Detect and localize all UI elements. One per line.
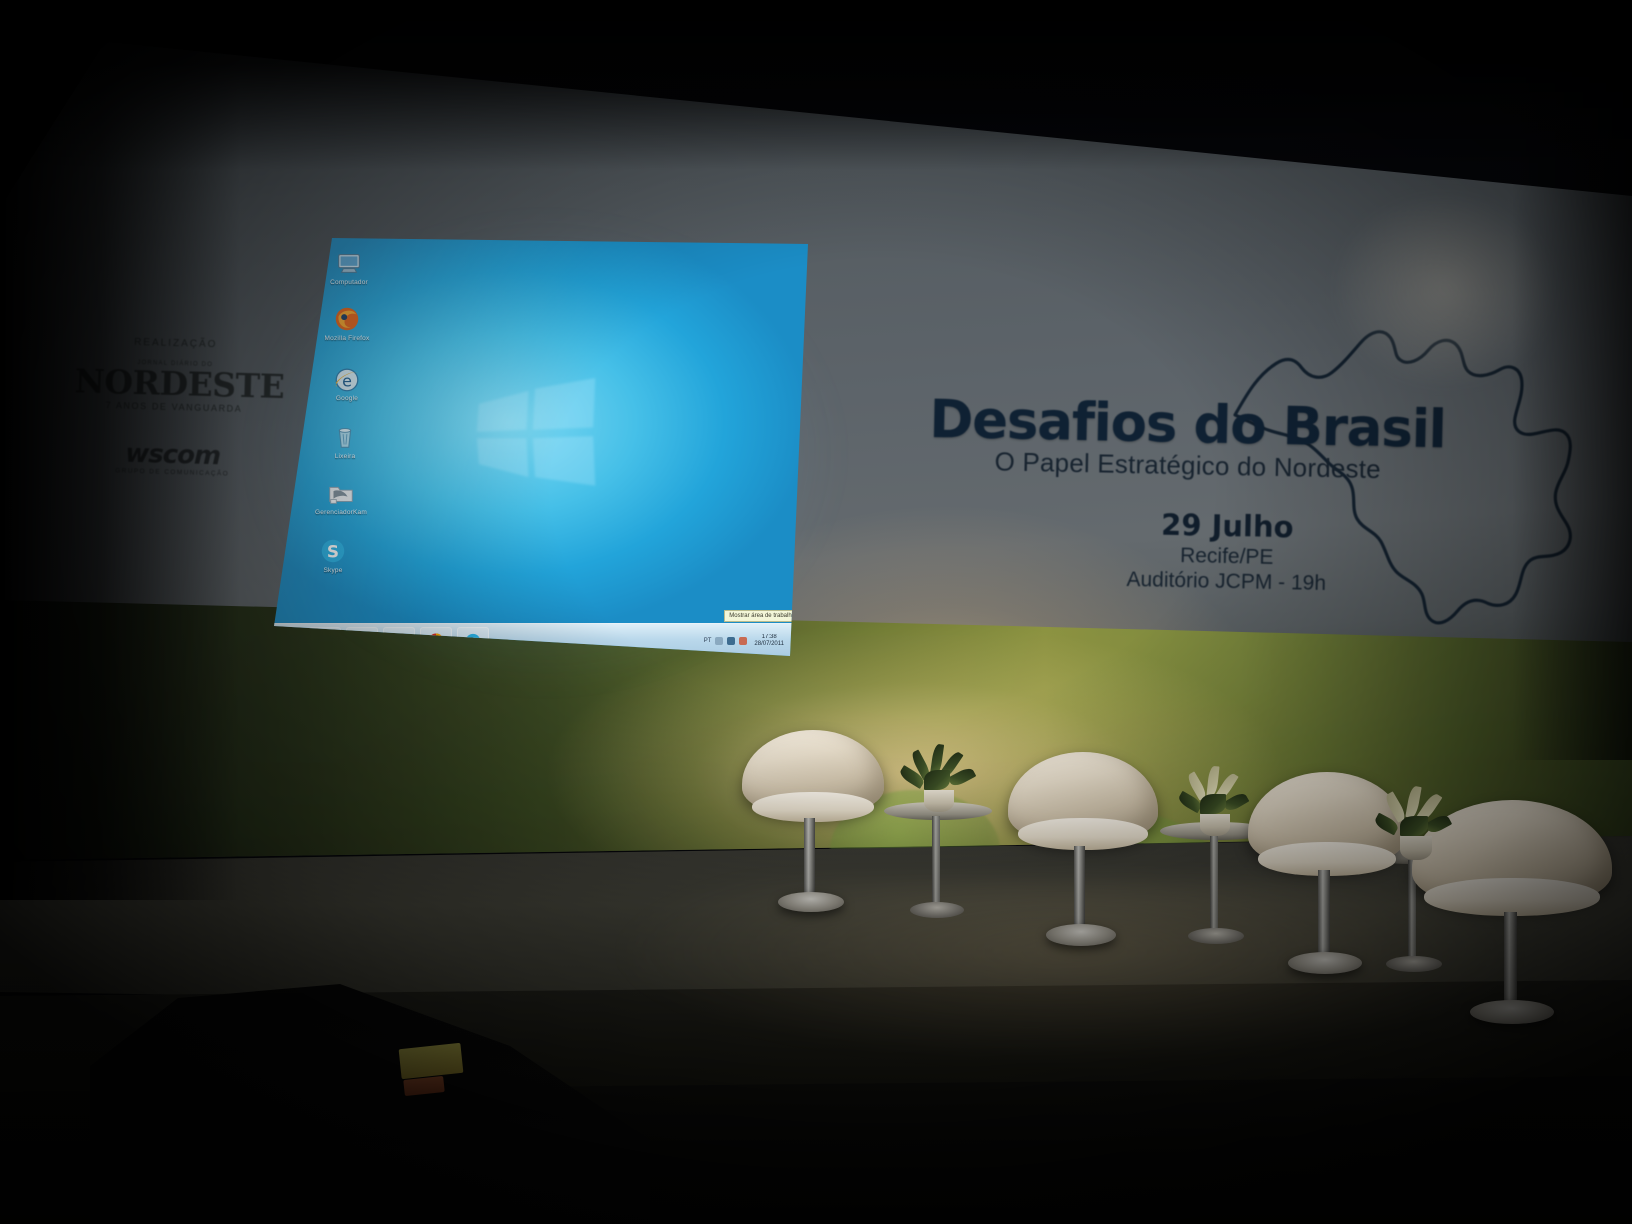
desktop-icon-google[interactable]: e Google (316, 364, 378, 403)
tray-triangle-icon[interactable] (715, 637, 723, 645)
table-foot (910, 902, 964, 918)
tray-network-icon[interactable] (727, 637, 735, 645)
svg-text:e: e (342, 372, 352, 391)
desktop-icon-lixeira[interactable]: Lixeira (314, 422, 376, 461)
recycle-bin-icon (330, 422, 360, 452)
chair-pole (1504, 912, 1517, 1008)
tray-volume-icon[interactable] (739, 637, 747, 645)
chair-cushion (1424, 878, 1600, 916)
event-dateline: 29 Julho Recife/PE Auditório JCPM - 19h (926, 503, 1488, 599)
chair-pole (804, 818, 815, 900)
svg-text:S: S (327, 542, 339, 562)
desktop-icon-gerenciador[interactable]: GerenciadorKam (310, 478, 372, 517)
desktop-icon-firefox[interactable]: Mozilla Firefox (316, 304, 378, 343)
plant-2 (1178, 766, 1258, 838)
plant-pot (1200, 814, 1230, 836)
chair-pole (1074, 846, 1085, 932)
chair-2 (1008, 752, 1168, 972)
plant-pot (1400, 836, 1432, 860)
sponsor-logos: REALIZAÇÃO JORNAL DIÁRIO DO NORDESTE 7 A… (72, 335, 276, 479)
desktop-icon-label: Skype (302, 567, 364, 575)
side-table-1 (884, 802, 996, 942)
table-foot (1188, 928, 1244, 944)
show-desktop-tooltip: Mostrar área de trabalho (724, 610, 800, 622)
skype-icon: S (318, 536, 348, 566)
tray-language-indicator[interactable]: PT (704, 638, 712, 644)
computer-icon (334, 248, 364, 278)
chair-pole (1318, 870, 1330, 960)
desktop-icon-label: Google (316, 395, 378, 403)
chair-base (1470, 1000, 1554, 1024)
plant-pot (924, 790, 954, 812)
plant-leaf (1200, 794, 1226, 814)
chair-1 (742, 730, 892, 940)
auditorium-scene: Desafios do Brasil O Papel Estratégico d… (0, 0, 1632, 1224)
taskbar-clock[interactable]: 17:38 28/07/2011 (751, 634, 787, 649)
desktop-icon-label: Mozilla Firefox (316, 335, 378, 343)
desktop-icon-label: Lixeira (314, 453, 376, 461)
clock-date: 28/07/2011 (754, 641, 784, 649)
projection-screen: Computador Mozilla Firefox e Google (274, 238, 808, 658)
plant-leaf (1400, 816, 1428, 836)
nordeste-name: NORDESTE (74, 364, 275, 403)
windows-logo-wallpaper (470, 378, 600, 490)
firefox-icon (332, 304, 362, 334)
windows-desktop[interactable]: Computador Mozilla Firefox e Google (274, 238, 808, 658)
table-stem (1210, 836, 1218, 934)
desktop-icon-label: Computador (318, 279, 380, 287)
internet-explorer-icon: e (332, 364, 362, 394)
plant-3 (1376, 786, 1460, 862)
chair-base (1288, 952, 1362, 974)
plant-1 (902, 744, 982, 814)
table-stem (932, 816, 940, 908)
chair-base (1046, 924, 1116, 946)
folder-shortcut-icon (326, 478, 356, 508)
sponsor-nordeste-logo: JORNAL DIÁRIO DO NORDESTE 7 ANOS DE VANG… (74, 358, 275, 415)
plant-leaf (924, 770, 950, 790)
chair-base (778, 892, 844, 912)
desktop-icon-skype[interactable]: S Skype (302, 536, 364, 575)
clock-time: 17:38 (754, 634, 784, 642)
sponsor-wscom-logo: wscom GRUPO DE COMUNICAÇÃO (72, 439, 273, 479)
desktop-icon-label: GerenciadorKam (310, 509, 372, 517)
banner-title-block: Desafios do Brasil O Papel Estratégico d… (926, 392, 1490, 599)
